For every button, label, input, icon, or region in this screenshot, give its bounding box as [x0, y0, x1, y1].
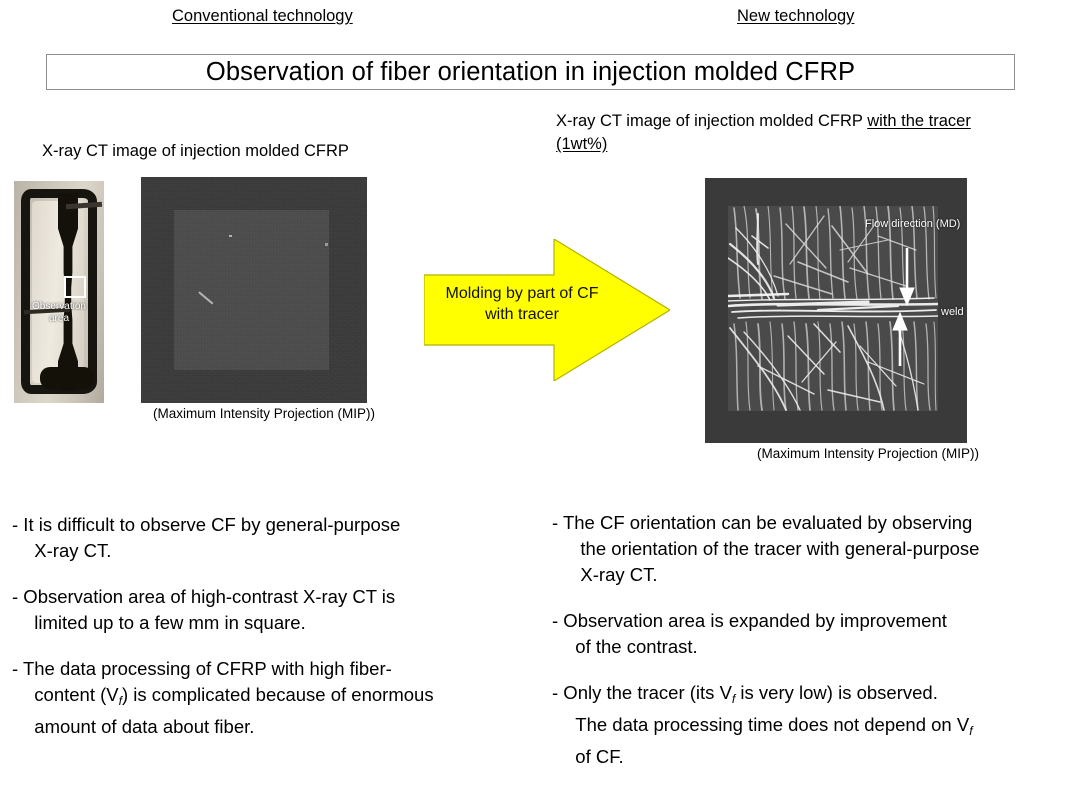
fiber-orientation-graphic	[728, 206, 938, 411]
observation-area-label: Observation area	[14, 301, 104, 325]
bullet-right-3-part3: of CF.	[565, 746, 624, 767]
ct-tracer-fiber-region	[728, 206, 938, 411]
bullet-left-3: - The data processing of CFRP with high …	[12, 656, 532, 740]
bullet-right-1: - The CF orientation can be evaluated by…	[552, 510, 1086, 588]
molding-process-arrow: Molding by part of CF with tracer	[424, 239, 670, 381]
bullet-right-3: - Only the tracer (its Vf is very low) i…	[552, 680, 1086, 770]
ct-image-tracer: Flow direction (MD) weld	[705, 178, 967, 443]
column-header-new: New technology	[737, 7, 854, 26]
observation-area-label-line1: Observation	[14, 301, 104, 313]
molded-part-foot	[40, 367, 94, 389]
left-panel-caption: X-ray CT image of injection molded CFRP	[42, 140, 349, 163]
bullet-left-1: - It is difficult to observe CF by gener…	[12, 512, 532, 564]
bullet-left-2: - Observation area of high-contrast X-ra…	[12, 584, 532, 636]
page-title: Observation of fiber orientation in inje…	[206, 58, 855, 87]
molding-arrow-label-line2: with tracer	[432, 304, 612, 325]
ct-image-conventional	[141, 177, 367, 403]
bullet-right-3-subscript-2: f	[969, 724, 972, 738]
conclusions-right: - The CF orientation can be evaluated by…	[552, 510, 1086, 790]
molded-part-photo: Observation area	[14, 181, 104, 403]
flow-direction-label: Flow direction (MD)	[865, 218, 960, 230]
conclusions-left: - It is difficult to observe CF by gener…	[12, 512, 532, 760]
weld-label: weld	[941, 306, 964, 318]
right-panel-caption: X-ray CT image of injection molded CFRP …	[556, 110, 996, 156]
slide-title-box: Observation of fiber orientation in inje…	[46, 54, 1015, 90]
observation-area-box	[64, 276, 86, 298]
right-caption-plain: X-ray CT image of injection molded CFRP	[556, 112, 867, 130]
column-header-conventional: Conventional technology	[172, 7, 353, 26]
mip-caption-left: (Maximum Intensity Projection (MIP))	[153, 406, 375, 421]
ct-conventional-speck-2	[325, 243, 328, 246]
mip-caption-right: (Maximum Intensity Projection (MIP))	[757, 446, 979, 461]
molding-arrow-label: Molding by part of CF with tracer	[432, 283, 612, 325]
ct-conventional-speck-1	[229, 235, 232, 237]
ct-conventional-noise	[141, 177, 367, 403]
molding-arrow-label-line1: Molding by part of CF	[432, 283, 612, 304]
bullet-right-2: - Observation area is expanded by improv…	[552, 608, 1086, 660]
observation-area-label-line2: area	[14, 313, 104, 325]
bullet-right-3-part1: - Only the tracer (its V	[552, 682, 732, 703]
